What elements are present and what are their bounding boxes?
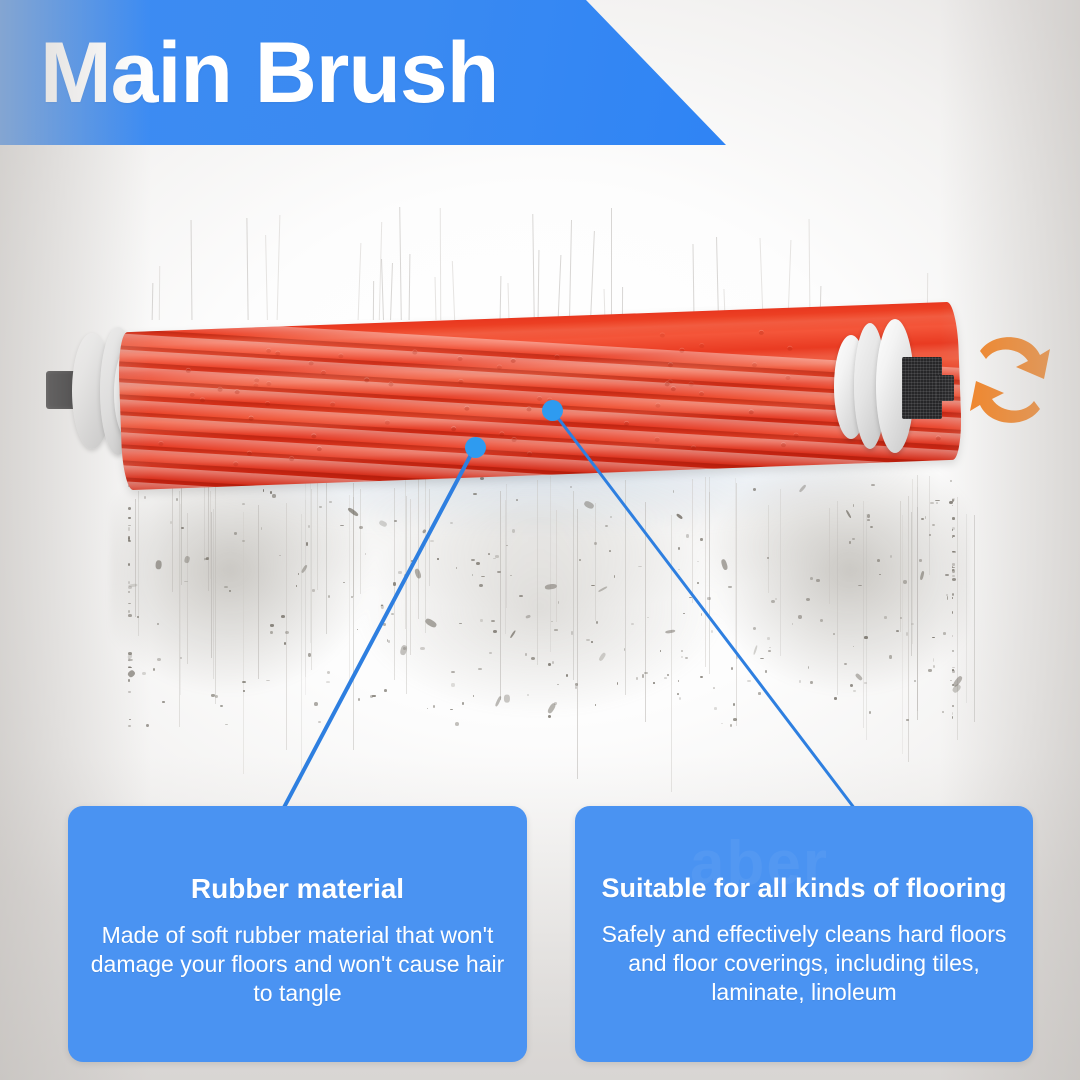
card-title-right: Suitable for all kinds of flooring: [575, 806, 1033, 904]
debris-speck: [845, 510, 851, 519]
debris-speck: [422, 529, 427, 534]
debris-speck: [308, 653, 311, 656]
debris-speck: [437, 558, 438, 560]
hair-strand: [966, 514, 967, 703]
roller-dimple: [253, 383, 258, 387]
hair-strand: [692, 479, 693, 603]
debris-speck: [594, 542, 597, 545]
debris-speck: [952, 597, 953, 599]
debris-speck: [314, 702, 318, 706]
hair-strand: [506, 484, 507, 608]
hair-strand: [550, 476, 551, 651]
hair-strand: [900, 501, 901, 632]
debris-speck: [711, 630, 713, 633]
debris-speck: [266, 680, 270, 681]
debris-speck: [489, 652, 492, 654]
hair-strand: [671, 515, 672, 792]
debris-speck: [404, 574, 407, 576]
debris-speck: [681, 650, 683, 652]
debris-speck: [137, 616, 139, 618]
debris-speck: [351, 596, 354, 597]
header-banner: Main Brush: [0, 0, 726, 145]
hair-strand: [305, 477, 306, 677]
debris-speck: [284, 642, 286, 644]
debris-speck: [509, 629, 516, 638]
hair-strand: [911, 512, 912, 655]
debris-speck: [181, 527, 183, 529]
hair-strand: [577, 509, 578, 779]
debris-speck: [647, 617, 649, 618]
debris-speck: [667, 674, 669, 676]
debris-speck: [512, 529, 515, 533]
debris-speck: [921, 518, 924, 520]
debris-speck: [128, 679, 129, 682]
roller-dimple: [451, 427, 456, 431]
debris-speck: [617, 682, 618, 685]
debris-speck: [329, 501, 332, 502]
debris-speck: [631, 623, 634, 625]
debris-speck: [579, 559, 581, 561]
debris-speck: [128, 584, 138, 588]
debris-speck: [430, 540, 433, 542]
debris-speck: [678, 569, 679, 570]
debris-speck: [300, 564, 307, 573]
debris-speck: [636, 677, 637, 680]
debris-speck: [583, 500, 595, 510]
debris-speck: [471, 559, 475, 561]
debris-speck: [946, 594, 947, 596]
debris-speck: [128, 654, 134, 660]
debris-speck: [566, 674, 568, 677]
debris-speck: [242, 681, 246, 683]
debris-speck: [127, 669, 136, 678]
debris-speck: [261, 527, 263, 530]
hair-strand: [305, 500, 306, 696]
info-card-flooring: Suitable for all kinds of flooring Safel…: [575, 806, 1033, 1062]
debris-speck: [929, 534, 931, 537]
debris-speck: [495, 555, 499, 557]
debris-speck: [855, 672, 863, 680]
debris-speck: [211, 694, 215, 696]
right-end-cap: [832, 319, 962, 459]
debris-speck: [279, 555, 281, 557]
debris-speck: [243, 690, 245, 692]
debris-speck: [952, 569, 956, 573]
debris-speck: [952, 505, 954, 506]
debris-speck: [506, 545, 508, 546]
debris-speck: [799, 680, 801, 684]
debris-speck: [128, 540, 131, 542]
debris-speck: [128, 538, 129, 541]
hair-strand: [317, 482, 318, 589]
hair-strand: [180, 504, 181, 696]
debris-speck: [731, 667, 733, 670]
debris-speck: [806, 598, 810, 601]
debris-speck: [128, 581, 130, 584]
hair-strand: [611, 208, 612, 320]
debris-speck: [596, 621, 598, 624]
debris-speck: [328, 595, 330, 598]
hair-strand: [500, 491, 501, 700]
hair-strand: [353, 497, 354, 750]
hair-strand: [645, 502, 646, 721]
hair-strand: [138, 491, 139, 636]
debris-speck: [665, 629, 676, 634]
debris-speck: [527, 694, 529, 696]
debris-speck: [952, 716, 953, 719]
roller-dimple: [689, 382, 694, 386]
debris-speck: [242, 503, 245, 505]
debris-speck: [480, 619, 482, 623]
hair-strand: [866, 514, 867, 741]
hair-strand: [181, 481, 182, 585]
debris-speck: [767, 637, 771, 640]
debris-speck: [420, 647, 424, 650]
debris-speck: [952, 684, 954, 687]
debris-speck: [234, 532, 237, 535]
debris-speck: [816, 579, 819, 582]
card-body-right: Safely and effectively cleans hard floor…: [575, 904, 1033, 1008]
hair-strand: [912, 479, 913, 645]
roller-dimple: [458, 380, 463, 384]
debris-speck: [298, 573, 299, 574]
debris-speck: [933, 658, 934, 662]
debris-speck: [575, 683, 578, 685]
debris-speck: [950, 680, 952, 681]
debris-speck: [686, 534, 689, 538]
debris-speck: [281, 615, 285, 618]
debris-speck: [387, 639, 388, 642]
debris-speck: [864, 636, 867, 639]
debris-speck: [391, 613, 394, 615]
debris-speck: [403, 647, 406, 650]
debris-speck: [206, 557, 210, 560]
hair-strand: [917, 487, 918, 654]
debris-speck: [557, 684, 558, 685]
debris-speck: [144, 496, 146, 499]
debris-speck: [128, 507, 131, 510]
debris-speck: [370, 695, 374, 698]
debris-speck: [184, 581, 188, 583]
debris-speck: [906, 719, 910, 721]
hair-strands-bottom: [0, 145, 1080, 845]
debris-speck: [952, 537, 954, 539]
debris-speck: [128, 591, 130, 592]
debris-speck: [472, 574, 474, 576]
debris-speck: [952, 675, 963, 687]
debris-speck: [554, 629, 558, 631]
debris-speck: [128, 527, 130, 530]
brush-assembly: [40, 305, 1050, 495]
debris-speck: [765, 670, 767, 673]
debris-speck: [932, 524, 935, 526]
debris-speck: [450, 709, 452, 710]
debris-speck: [700, 538, 703, 541]
debris-speck: [504, 694, 510, 702]
debris-speck: [531, 657, 535, 660]
debris-speck: [381, 603, 384, 608]
debris-speck: [554, 702, 558, 705]
debris-speck: [949, 501, 953, 504]
debris-speck: [701, 613, 702, 616]
debris-speck: [768, 650, 771, 652]
debris-speck: [769, 647, 770, 648]
debris-speck: [911, 623, 914, 625]
roller-dimple: [217, 387, 222, 391]
debris-speck: [225, 724, 228, 726]
callout-dot-left[interactable]: [465, 437, 486, 458]
debris-speck: [326, 681, 330, 683]
debris-speck: [771, 600, 775, 603]
debris-speck: [128, 525, 130, 526]
debris-speck: [945, 574, 949, 576]
debris-speck: [896, 630, 899, 632]
debris-speck: [952, 517, 956, 520]
debris-speck: [372, 695, 376, 697]
debris-speck: [128, 666, 131, 668]
debris-speck: [378, 520, 387, 528]
hair-strand: [537, 480, 538, 665]
debris-speck: [157, 658, 161, 661]
debris-speck: [575, 686, 578, 689]
debris-speck: [676, 513, 684, 520]
debris-speck: [184, 556, 190, 563]
roller-dimple: [330, 402, 335, 406]
debris-speck: [852, 538, 855, 539]
debris-speck: [229, 590, 231, 592]
hair-strands-top: [0, 145, 1080, 845]
debris-speck: [327, 671, 330, 674]
debris-speck: [591, 641, 593, 643]
debris-speck: [153, 668, 155, 671]
debris-speck: [129, 719, 131, 720]
debris-speck: [935, 500, 939, 502]
roller-dimple: [699, 392, 704, 396]
card-body-left: Made of soft rubber material that won't …: [68, 905, 527, 1009]
debris-speck: [952, 611, 953, 614]
debris-speck: [128, 652, 132, 655]
debris-speck: [598, 652, 606, 661]
debris-speck: [548, 715, 551, 718]
debris-speck: [890, 555, 892, 557]
debris-speck: [952, 566, 954, 568]
hair-strand: [908, 496, 909, 762]
debris-speck: [952, 527, 955, 530]
debris-speck: [798, 615, 802, 618]
debris-speck: [398, 571, 402, 573]
hair-strand: [394, 488, 395, 680]
hair-strand: [974, 515, 975, 722]
debris-speck: [180, 657, 182, 659]
debris-speck: [411, 560, 414, 561]
debris-speck: [451, 683, 454, 686]
callout-dot-right[interactable]: [542, 400, 563, 421]
debris-speck: [384, 689, 387, 692]
debris-speck: [867, 514, 870, 517]
debris-speck: [685, 657, 688, 659]
debris-speck: [753, 627, 756, 630]
debris-speck: [930, 502, 934, 504]
debris-speck: [394, 520, 397, 522]
debris-speck: [952, 569, 955, 572]
debris-speck: [343, 582, 345, 584]
roller-dimple: [412, 350, 417, 354]
debris-speck: [736, 655, 738, 659]
debris-speck: [427, 708, 428, 710]
roller-dimple: [497, 365, 502, 369]
debris-speck: [128, 563, 130, 566]
roller-dimple: [265, 402, 270, 406]
debris-speck: [810, 577, 813, 580]
debris-speck: [491, 620, 495, 622]
debris-speck: [128, 667, 131, 668]
debris-speck: [697, 561, 699, 563]
hair-strand: [780, 489, 781, 656]
debris-speck: [551, 621, 553, 623]
debris-speck: [760, 658, 764, 659]
debris-speck: [456, 567, 457, 569]
debris-speck: [952, 563, 956, 565]
debris-speck: [162, 701, 165, 703]
hair-strand: [705, 477, 706, 667]
debris-speck: [493, 630, 497, 633]
debris-speck: [733, 703, 735, 706]
debris-speck: [919, 559, 922, 562]
hair-strand: [573, 491, 574, 680]
debris-speck: [146, 724, 149, 727]
debris-speck: [678, 680, 680, 682]
debris-speck: [473, 695, 474, 697]
hair-strand: [440, 208, 441, 320]
roller-dimple: [671, 387, 676, 391]
hair-strand: [179, 491, 180, 727]
info-card-rubber-material: Rubber material Made of soft rubber mate…: [68, 806, 527, 1062]
infographic-stage: Main Brush aber Rubber material Made of …: [0, 0, 1080, 1080]
debris-speck: [558, 601, 559, 604]
hair-strand: [353, 483, 354, 597]
roller-dimple: [654, 437, 659, 441]
hair-strand: [709, 492, 710, 674]
page-title: Main Brush: [40, 30, 498, 116]
debris-speck: [285, 631, 289, 634]
roller-dimple: [679, 349, 684, 353]
debris-speck: [624, 648, 625, 651]
debris-speck: [849, 541, 850, 544]
debris-speck: [714, 707, 717, 709]
debris-speck: [879, 574, 881, 576]
debris-speck: [833, 633, 834, 635]
debris-speck: [867, 519, 870, 521]
debris-speck: [925, 516, 927, 519]
debris-speck: [932, 637, 935, 639]
debris-speck: [853, 690, 856, 691]
debris-speck: [455, 722, 459, 726]
hair-strand: [917, 507, 918, 720]
debris-speck: [459, 623, 461, 625]
debris-speck: [176, 498, 178, 501]
debris-speck: [660, 650, 661, 653]
debris-speck: [425, 617, 438, 628]
debris-speck: [595, 704, 597, 706]
debris-speck: [433, 705, 436, 708]
debris-speck: [478, 668, 482, 671]
debris-speck: [952, 669, 954, 670]
debris-speck: [128, 667, 132, 668]
debris-speck: [479, 584, 483, 587]
hair-strand: [625, 480, 626, 695]
debris-speck: [730, 724, 731, 727]
debris-speck: [381, 605, 383, 606]
debris-speck: [128, 586, 132, 589]
hair-strand: [829, 508, 830, 604]
hair-strand: [135, 499, 136, 617]
debris-speck: [400, 645, 408, 656]
debris-speck: [495, 696, 502, 707]
debris-speck: [952, 635, 953, 637]
debris-speck: [834, 697, 838, 700]
debris-speck: [952, 578, 956, 581]
debris-speck: [497, 571, 501, 573]
debris-speck: [586, 639, 590, 641]
roller-dimple: [758, 331, 763, 335]
hair-strand: [406, 496, 407, 694]
hair-strand: [349, 495, 350, 690]
hair-strand: [360, 489, 361, 593]
hair-strand: [301, 514, 302, 780]
debris-speck: [128, 691, 130, 692]
debris-speck: [552, 661, 554, 664]
debris-speck: [128, 614, 132, 617]
debris-speck: [952, 498, 955, 500]
debris-speck: [952, 575, 955, 577]
debris-speck: [952, 712, 954, 715]
debris-speck: [681, 656, 683, 659]
debris-speck: [820, 619, 823, 622]
roller-dimple: [190, 392, 195, 396]
debris-speck: [700, 676, 703, 678]
debris-speck: [644, 672, 647, 675]
hair-strand: [410, 499, 411, 655]
hair-strand: [326, 481, 327, 634]
debris-speck: [853, 646, 854, 648]
hair-strand: [418, 477, 419, 620]
debris-speck: [545, 583, 557, 590]
hair-strand: [243, 512, 244, 774]
debris-speck: [853, 504, 855, 507]
debris-speck: [844, 663, 847, 665]
debris-speck: [591, 585, 595, 586]
debris-speck: [707, 597, 711, 599]
hair-strand: [258, 505, 259, 679]
debris-speck: [413, 568, 421, 579]
debris-speck: [903, 580, 907, 583]
roller-dimple: [659, 333, 664, 337]
debris-speck: [614, 575, 615, 577]
debris-speck: [308, 525, 310, 528]
debris-speck: [340, 525, 343, 527]
debris-speck: [312, 589, 315, 591]
roller-dimple: [235, 390, 240, 394]
debris-speck: [242, 540, 245, 542]
debris-particles: [120, 475, 960, 735]
debris-speck: [270, 624, 274, 626]
debris-speck: [610, 516, 612, 518]
hair-strand: [310, 479, 311, 643]
debris-speck: [547, 702, 557, 714]
roller-dimple: [655, 403, 660, 407]
debris-speck: [808, 666, 809, 670]
debris-speck: [653, 682, 656, 684]
